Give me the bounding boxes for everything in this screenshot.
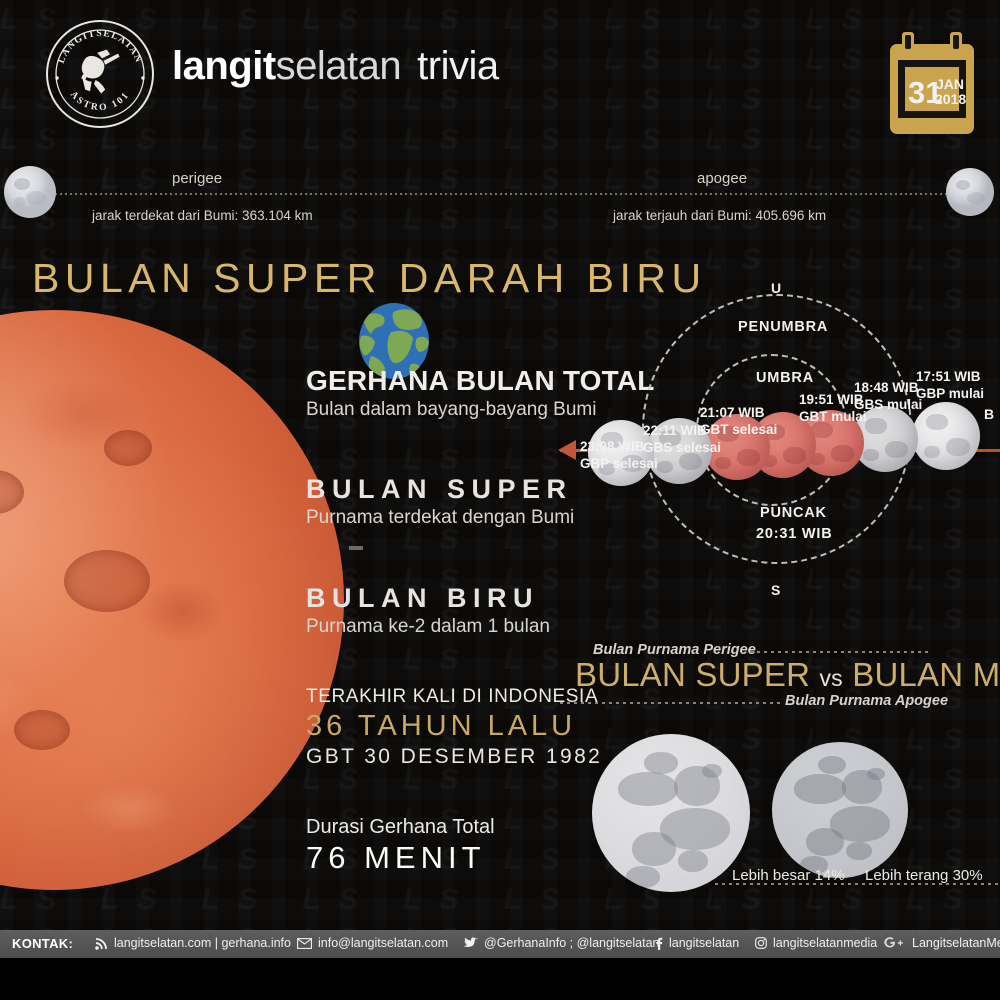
- perigee-apogee-band: perigee jarak terdekat dari Bumi: 363.10…: [0, 150, 1000, 255]
- contact-label: KONTAK:: [12, 936, 73, 951]
- footer-item-instagram[interactable]: langitselatanmedia: [755, 936, 877, 950]
- duration-label: Durasi Gerhana Total: [306, 816, 495, 839]
- umbra-label: UMBRA: [756, 370, 814, 386]
- footer-item-text: LangitselatanMedia: [912, 936, 1000, 950]
- feature-sub: Purnama terdekat dengan Bumi: [306, 507, 574, 529]
- moon-surface-mottle: [0, 310, 344, 890]
- footer-item-text: langitselatanmedia: [773, 936, 877, 950]
- footer-item-email[interactable]: info@langitselatan.com: [297, 936, 448, 950]
- email-icon: [297, 938, 312, 949]
- feature-item-2: BULAN BIRU Purnama ke-2 dalam 1 bulan: [306, 583, 550, 638]
- brand-light: selatan: [276, 44, 401, 88]
- last-eclipse-detail: GBT 30 DESEMBER 1982: [306, 745, 602, 769]
- footer-item-website[interactable]: langitselatan.com | gerhana.info: [95, 936, 291, 950]
- footer-item-twitter[interactable]: @GerhanaInfo ; @langitselatan: [463, 936, 659, 950]
- infographic-canvas: LS LS LS LS LS LS LS LS LS LS LS LS LS L…: [0, 0, 1000, 1000]
- footer-item-text: @GerhanaInfo ; @langitselatan: [484, 936, 659, 950]
- separator-dash: [349, 546, 363, 550]
- last-eclipse-label: TERAKHIR KALI DI INDONESIA: [306, 686, 602, 708]
- calendar-icon: 31 JAN 2018: [884, 30, 980, 138]
- phase-event: GBS mulai: [854, 396, 922, 413]
- duration-value: 76 MENIT: [306, 840, 495, 876]
- header: LANGITSELATAN ASTRO 101 langitselatantri…: [0, 0, 1000, 148]
- apogee-moon-icon: [944, 166, 996, 218]
- compare-bottom-label: Bulan Purnama Apogee: [785, 693, 948, 709]
- compare-dash-bottom: [560, 702, 782, 704]
- eclipse-path-diagram: U S T B PENUMBRA UMBRA PUNCAK 20:31 WIB: [560, 272, 1000, 612]
- axis-label-s: S: [771, 582, 780, 598]
- path-arrow-icon: [558, 440, 576, 460]
- phase-stamp-2: 21:07 WIB GBT selesai: [700, 404, 777, 438]
- instagram-icon: [755, 937, 767, 949]
- calendar-year: 2018: [935, 91, 966, 107]
- caption-brighter: Lebih terang 30%: [865, 867, 983, 884]
- perigee-moon-icon: [2, 164, 58, 220]
- feature-heading: BULAN SUPER: [306, 474, 574, 505]
- last-eclipse-block: TERAKHIR KALI DI INDONESIA 36 TAHUN LALU…: [306, 686, 602, 769]
- blood-moon-illustration: [0, 310, 344, 890]
- langitselatan-logo-icon: LANGITSELATAN ASTRO 101: [44, 18, 156, 130]
- super-vs-mini-comparison: Bulan Purnama Perigee BULAN SUPER vs BUL…: [560, 630, 1000, 910]
- footer-item-text: langitselatan.com | gerhana.info: [114, 936, 291, 950]
- footer-item-googleplus[interactable]: LangitselatanMedia: [884, 936, 1000, 950]
- last-eclipse-value: 36 TAHUN LALU: [306, 710, 602, 743]
- phase-stamp-4: 18:48 WIB GBS mulai: [854, 379, 922, 413]
- googleplus-icon: [884, 937, 906, 949]
- perigee-label: perigee: [172, 170, 222, 187]
- phase-time: 21:07 WIB: [700, 404, 777, 421]
- axis-label-b: B: [984, 406, 994, 422]
- phase-time: 18:48 WIB: [854, 379, 922, 396]
- compare-title-left: BULAN SUPER: [575, 656, 810, 693]
- supermoon-illustration: [592, 734, 750, 892]
- compare-title: BULAN SUPER vs BULAN MINI: [575, 656, 1000, 694]
- calendar-month: JAN: [936, 76, 964, 92]
- perigee-detail: jarak terdekat dari Bumi: 363.104 km: [92, 208, 313, 223]
- phase-stamp-5: 17:51 WIB GBP mulai: [916, 368, 984, 402]
- compare-dash-top: [750, 651, 928, 653]
- feature-sub: Purnama ke-2 dalam 1 bulan: [306, 616, 550, 638]
- feature-item-1: BULAN SUPER Purnama terdekat dengan Bumi: [306, 474, 574, 529]
- footer-item-text: info@langitselatan.com: [318, 936, 448, 950]
- phase-event: GBP mulai: [916, 385, 984, 402]
- penumbra-label: PENUMBRA: [738, 319, 828, 335]
- peak-time: 20:31 WIB: [756, 526, 833, 542]
- axis-label-u: U: [771, 280, 781, 296]
- caption-bigger: Lebih besar 14%: [732, 867, 845, 884]
- twitter-icon: [463, 937, 478, 949]
- compare-title-vs: vs: [819, 665, 842, 691]
- brand-wordmark: langitselatantrivia: [172, 44, 499, 89]
- minimoon-illustration: [772, 742, 908, 878]
- facebook-icon: [655, 937, 663, 950]
- svg-text:ASTRO 101: ASTRO 101: [68, 89, 132, 113]
- footer-underline: [0, 958, 1000, 1000]
- phase-event: GBT selesai: [700, 421, 777, 438]
- phase-event: GBP selesai: [580, 455, 658, 472]
- orbit-dotted-line: [30, 193, 970, 195]
- peak-label: PUNCAK: [760, 505, 827, 521]
- brand-bold: langit: [172, 44, 276, 88]
- phase-event: GBS selesai: [643, 439, 721, 456]
- apogee-label: apogee: [697, 170, 747, 187]
- phase-time: 17:51 WIB: [916, 368, 984, 385]
- compare-title-right: BULAN MINI: [852, 656, 1000, 693]
- apogee-detail: jarak terjauh dari Bumi: 405.696 km: [613, 208, 826, 223]
- footer-item-facebook[interactable]: langitselatan: [655, 936, 739, 950]
- brand-suffix: trivia: [417, 44, 498, 88]
- duration-block: Durasi Gerhana Total 76 MENIT: [306, 816, 495, 876]
- rss-icon: [95, 937, 108, 950]
- footer-item-text: langitselatan: [669, 936, 739, 950]
- feature-heading: BULAN BIRU: [306, 583, 550, 614]
